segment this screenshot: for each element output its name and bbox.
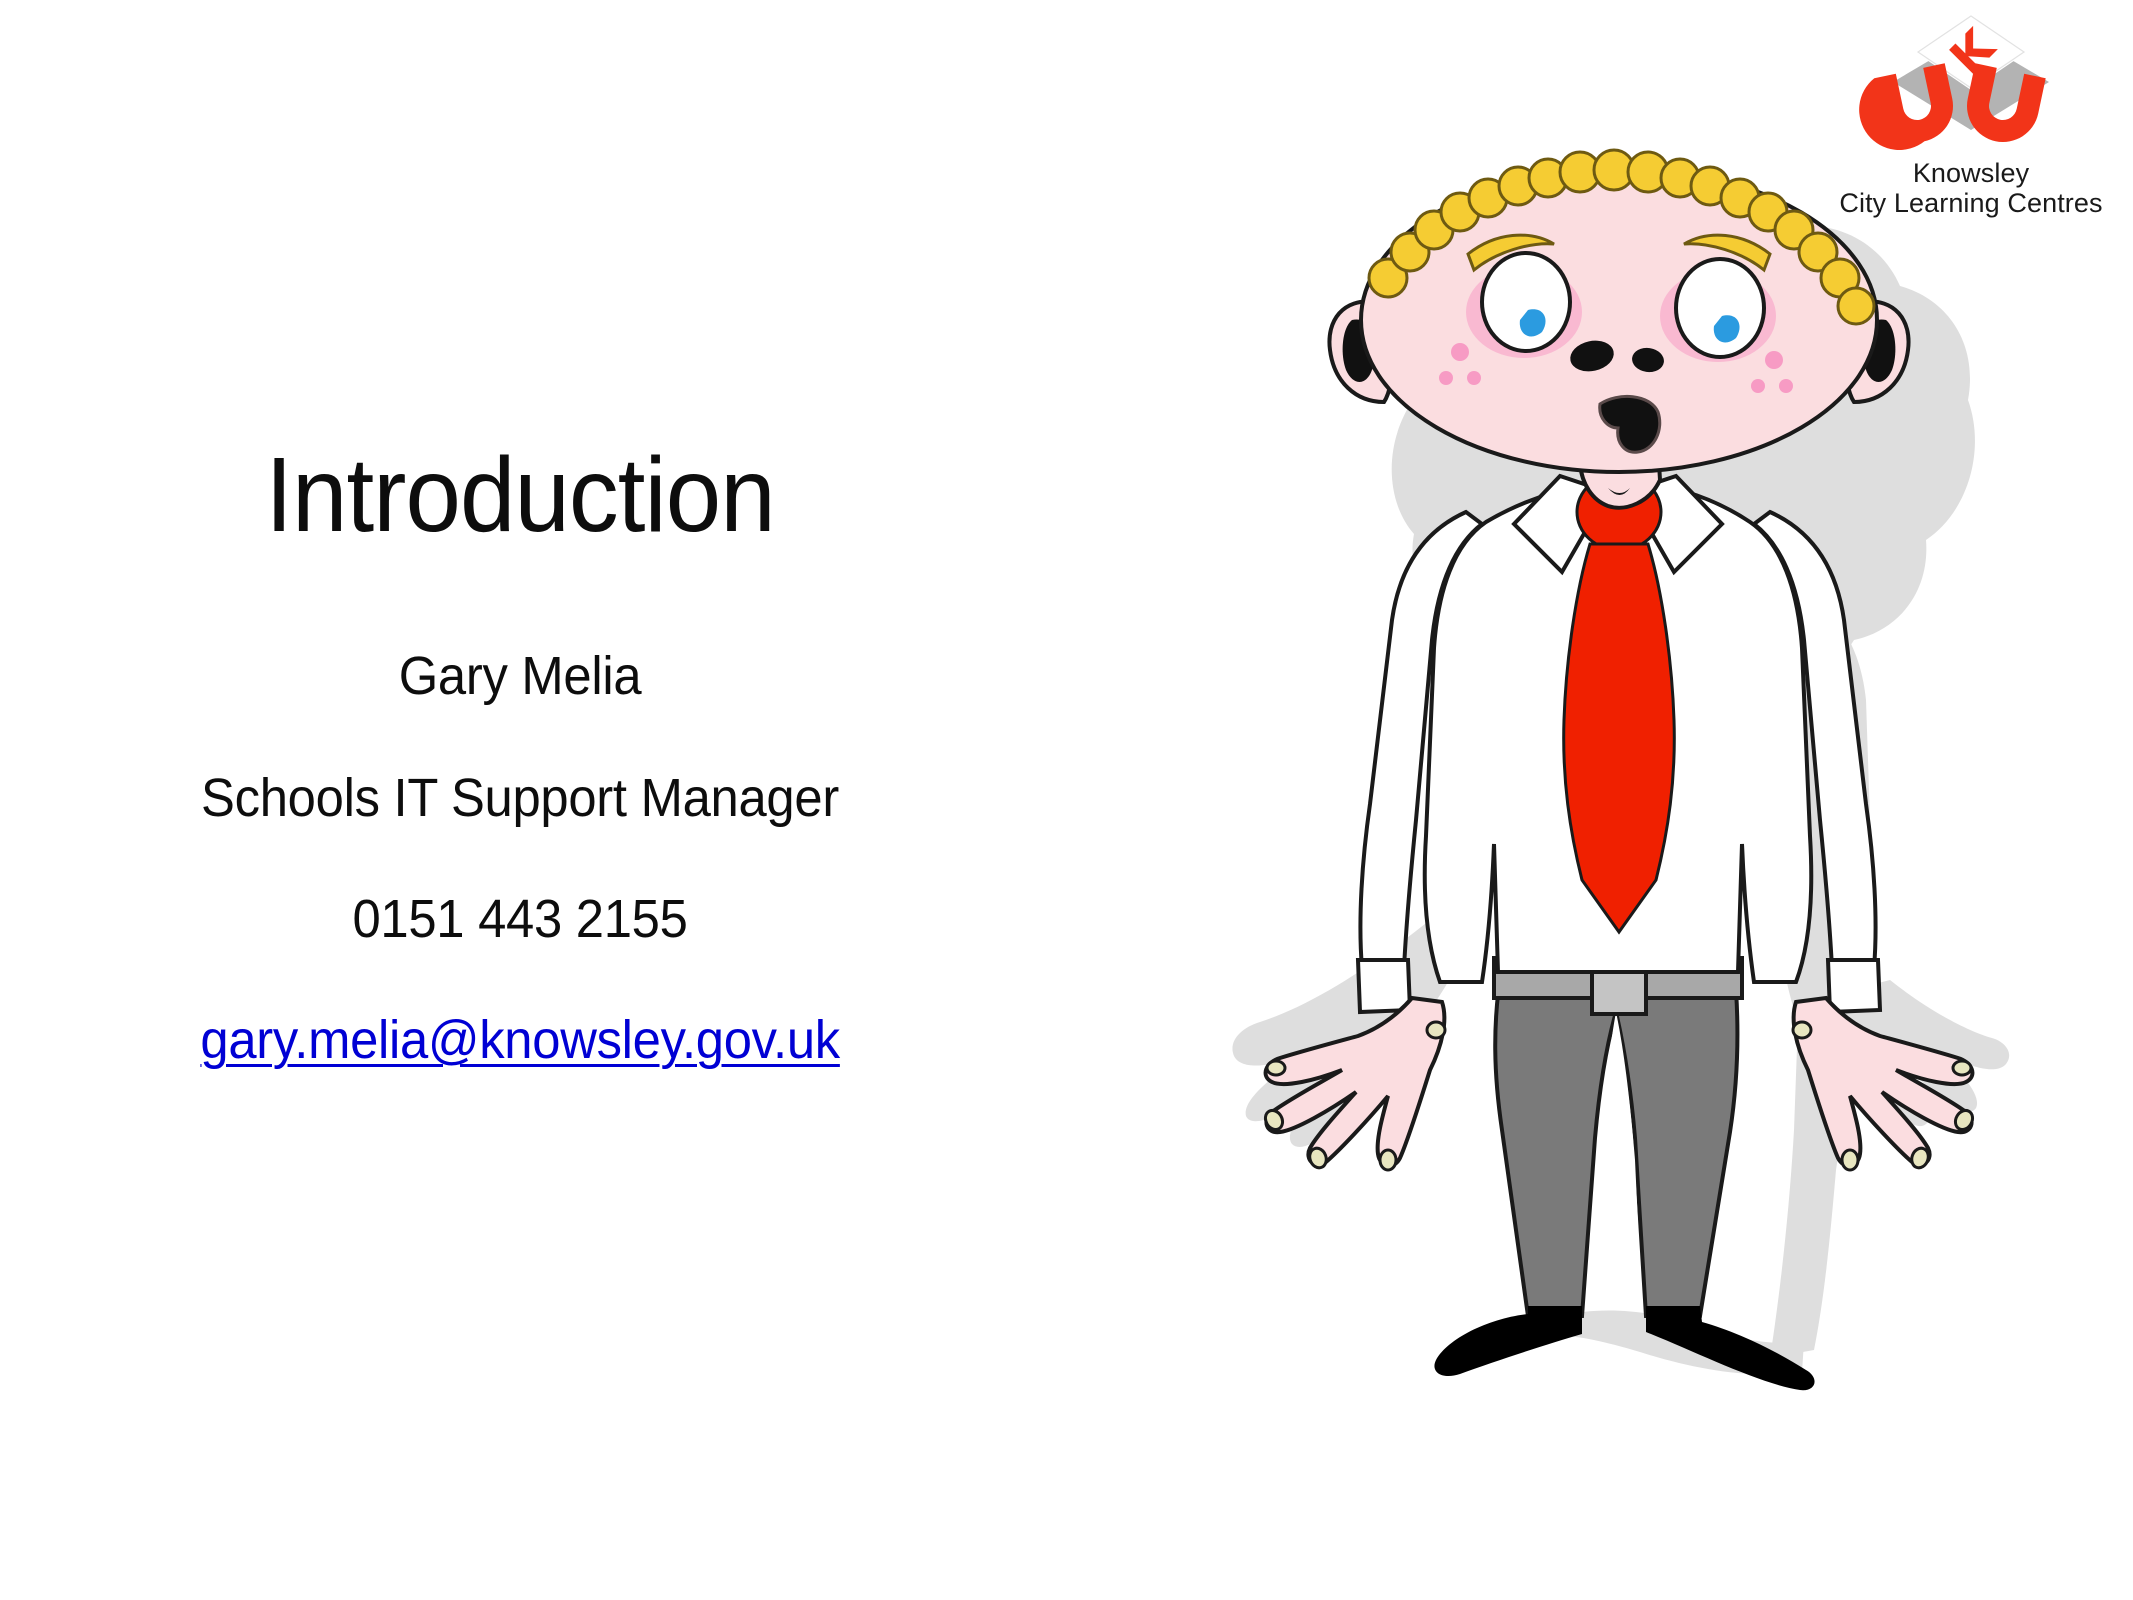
slide-text-column: Introduction Gary Melia Schools IT Suppo… — [80, 440, 960, 1071]
knowsley-clc-logo-icon — [1851, 8, 2091, 158]
page-title: Introduction — [106, 440, 933, 551]
presenter-name: Gary Melia — [106, 647, 933, 706]
presenter-job-title: Schools IT Support Manager — [106, 769, 933, 828]
presenter-phone: 0151 443 2155 — [106, 890, 933, 949]
slide-canvas: Knowsley City Learning Centres Introduct… — [0, 0, 2133, 1600]
trousers — [1494, 956, 1742, 1316]
eye-right — [1676, 259, 1764, 357]
logo-text-line1: Knowsley — [1821, 158, 2121, 188]
logo-text-line2: City Learning Centres — [1821, 188, 2121, 218]
eye-left — [1482, 253, 1570, 351]
logo-block: Knowsley City Learning Centres — [1821, 8, 2121, 218]
presenter-email-link[interactable]: gary.melia@knowsley.gov.uk — [200, 1011, 839, 1070]
confused-schoolboy-illustration — [1130, 120, 2010, 1420]
